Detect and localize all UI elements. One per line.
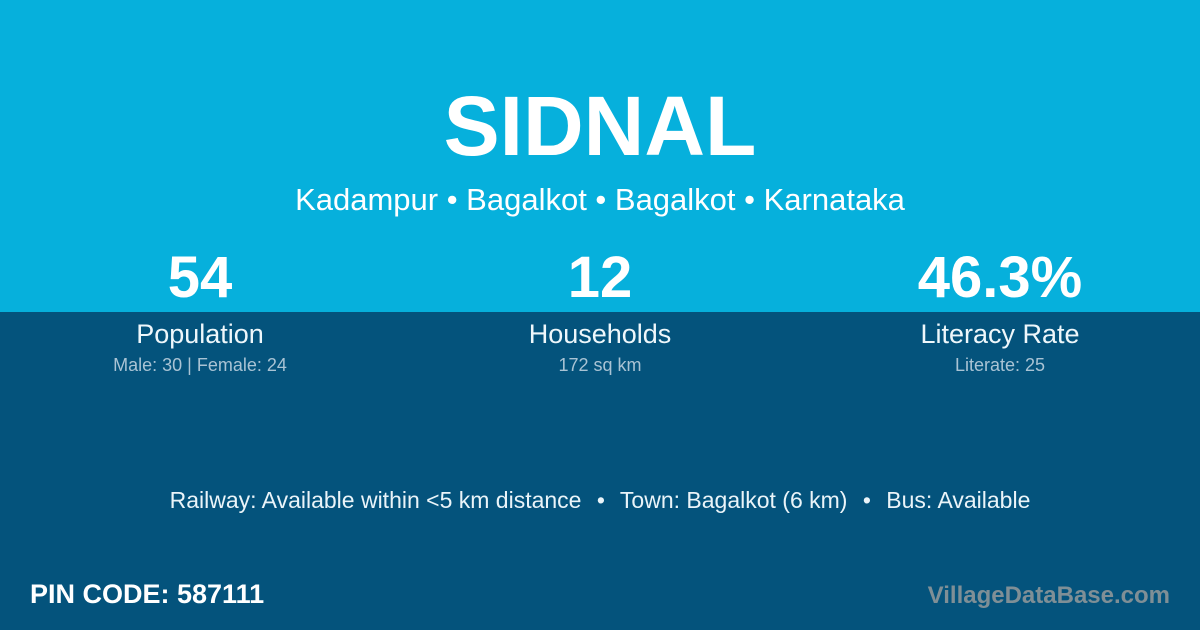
card-footer: PIN CODE: 587111 VillageDataBase.com (0, 570, 1200, 630)
stat-households-label: Households (400, 317, 800, 351)
infra-separator-1: • (588, 483, 614, 517)
infra-bus: Bus: Available (886, 487, 1030, 513)
site-brand-watermark: VillageDataBase.com (928, 580, 1170, 612)
page-title: SIDNAL (0, 78, 1200, 174)
stat-literacy-sub: Literate: 25 (800, 353, 1200, 377)
stat-households-sub: 172 sq km (400, 353, 800, 377)
stat-population-value: 54 (0, 243, 400, 312)
infra-separator-2: • (854, 483, 880, 517)
infrastructure-line: Railway: Available within <5 km distance… (0, 483, 1200, 517)
stats-row: 54 Population Male: 30 | Female: 24 12 H… (0, 243, 1200, 388)
infra-town: Town: Bagalkot (6 km) (620, 487, 848, 513)
stat-population-label: Population (0, 317, 400, 351)
stat-households: 12 Households 172 sq km (400, 243, 800, 388)
stat-households-value: 12 (400, 243, 800, 312)
stat-literacy-label: Literacy Rate (800, 317, 1200, 351)
stat-population: 54 Population Male: 30 | Female: 24 (0, 243, 400, 388)
village-info-card: SIDNAL Kadampur • Bagalkot • Bagalkot • … (0, 0, 1200, 630)
pin-code-label: PIN CODE: 587111 (30, 577, 264, 611)
stat-population-sub: Male: 30 | Female: 24 (0, 353, 400, 377)
stat-literacy-value: 46.3% (800, 243, 1200, 312)
breadcrumb: Kadampur • Bagalkot • Bagalkot • Karnata… (0, 180, 1200, 220)
infra-railway: Railway: Available within <5 km distance (170, 487, 582, 513)
card-content: SIDNAL Kadampur • Bagalkot • Bagalkot • … (0, 0, 1200, 630)
stat-literacy: 46.3% Literacy Rate Literate: 25 (800, 243, 1200, 388)
